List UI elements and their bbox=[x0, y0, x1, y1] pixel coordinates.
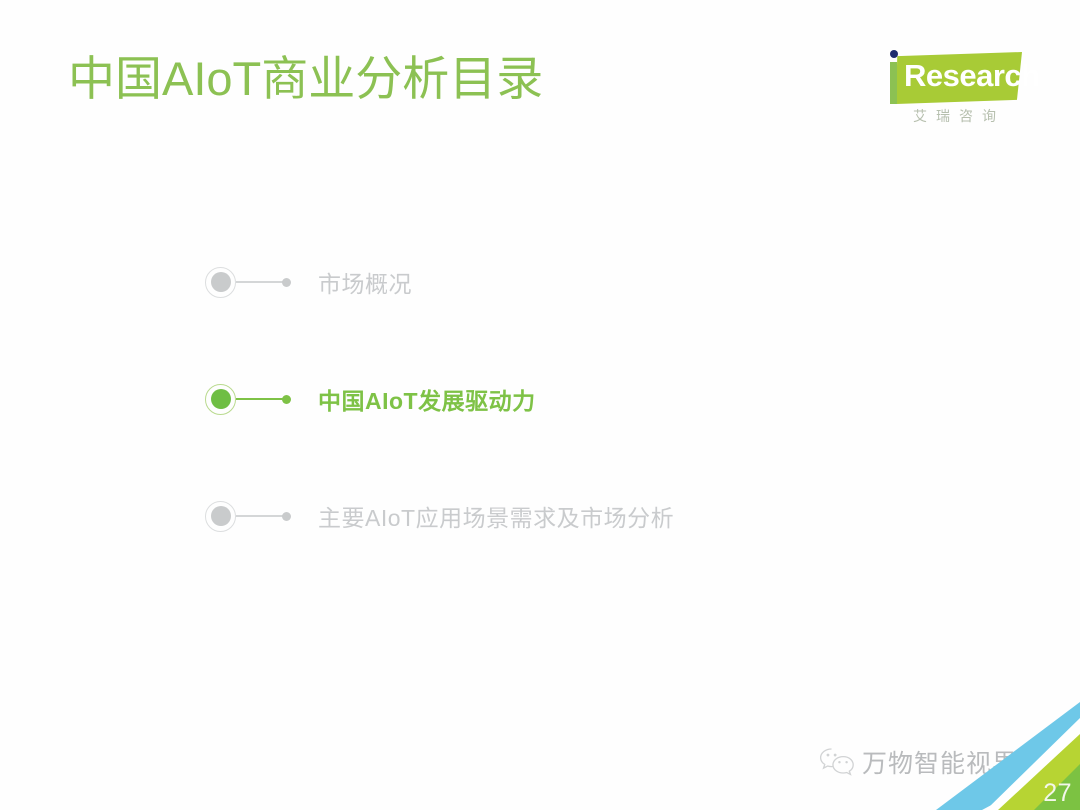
toc-item-aiot-drivers[interactable]: 中国AIoT发展驱动力 bbox=[205, 382, 536, 416]
bullet-core bbox=[211, 389, 231, 409]
connector-line bbox=[236, 515, 283, 517]
connector-end-dot-icon bbox=[282, 512, 291, 521]
ring-dot-icon bbox=[205, 267, 236, 298]
ring-dot-icon bbox=[205, 384, 236, 415]
ring-dot-icon bbox=[205, 501, 236, 532]
toc-list: 市场概况 中国AIoT发展驱动力 主要AIoT应用场景需求及市场分析 bbox=[0, 0, 1080, 810]
page-number: 27 bbox=[1043, 779, 1072, 808]
slide-canvas: 中国AIoT商业分析目录 Research 艾瑞咨询 市场概况 中国AIoT发展… bbox=[0, 0, 1080, 810]
toc-item-label: 中国AIoT发展驱动力 bbox=[318, 382, 536, 416]
connector-line bbox=[236, 281, 283, 283]
connector-end-dot-icon bbox=[282, 395, 291, 404]
bullet-core bbox=[211, 272, 231, 292]
corner-decoration: 27 bbox=[930, 700, 1080, 810]
toc-item-label: 主要AIoT应用场景需求及市场分析 bbox=[318, 499, 674, 533]
toc-item-market-overview[interactable]: 市场概况 bbox=[205, 265, 412, 299]
wechat-icon bbox=[818, 746, 856, 778]
connector-end-dot-icon bbox=[282, 278, 291, 287]
toc-item-label: 市场概况 bbox=[318, 265, 412, 299]
toc-item-application-scenarios[interactable]: 主要AIoT应用场景需求及市场分析 bbox=[205, 499, 674, 533]
connector-line bbox=[236, 398, 283, 400]
bullet-core bbox=[211, 506, 231, 526]
